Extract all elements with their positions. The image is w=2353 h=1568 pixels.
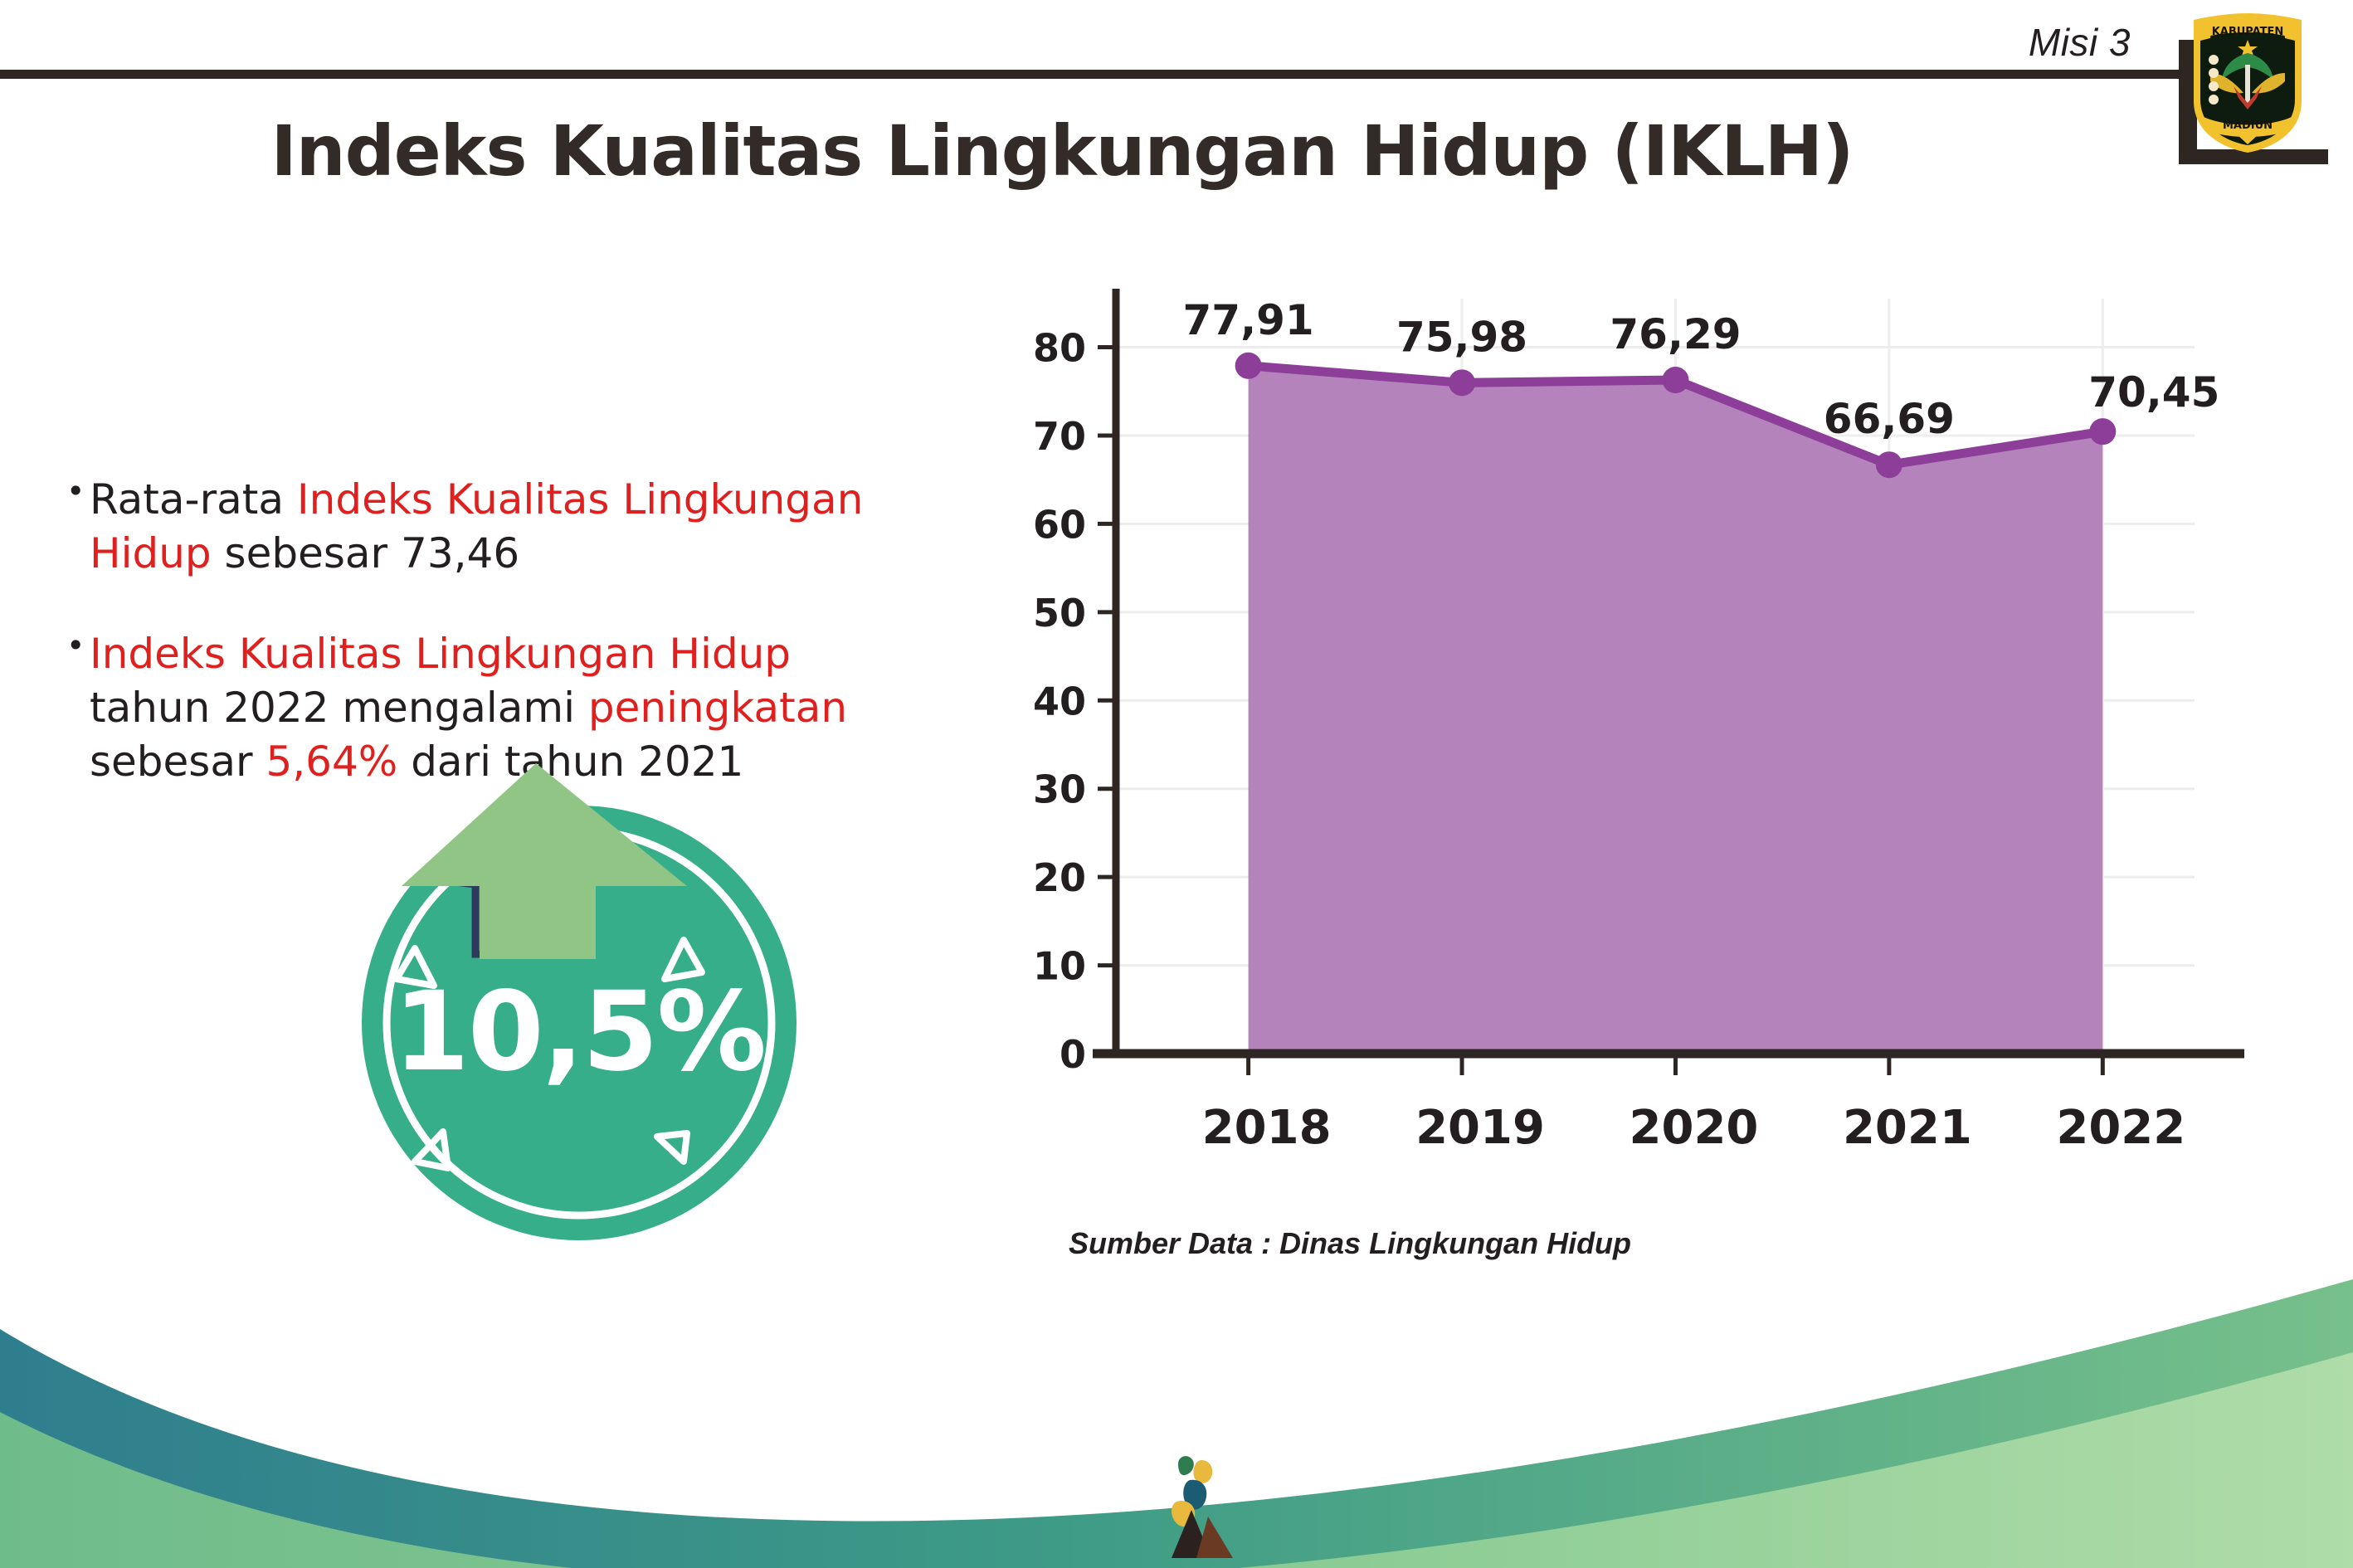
chart-y-axis: 01020304050607080 xyxy=(1033,326,1116,1077)
data-point-label: 70,45 xyxy=(2088,368,2219,416)
y-tick-label: 20 xyxy=(1033,855,1086,900)
y-tick-label: 40 xyxy=(1033,679,1086,723)
y-tick-label: 30 xyxy=(1033,767,1086,812)
increase-badge: 10,5% xyxy=(322,737,836,1251)
x-tick-label: 2019 xyxy=(1415,1101,1545,1155)
bullet-segment-1: tahun 2022 mengalami xyxy=(90,684,588,732)
data-point-marker xyxy=(1876,451,1902,478)
data-point-marker xyxy=(2089,418,2116,445)
crest-bottom-text: MADIUN xyxy=(2223,119,2273,132)
chart-canvas: 01020304050607080 20182019202020212022 7… xyxy=(954,274,2248,1211)
data-point-label: 76,29 xyxy=(1610,310,1741,358)
x-tick-label: 2020 xyxy=(1630,1101,1759,1155)
y-tick-label: 80 xyxy=(1033,326,1086,371)
misi-label: Misi 3 xyxy=(2029,20,2131,65)
bullet-segment-3: sebesar xyxy=(90,738,266,786)
statistics-figure-icon xyxy=(1153,1452,1245,1560)
bullet-segment-2: sebesar 73,46 xyxy=(212,529,519,577)
bullet-segment-0: Indeks Kualitas Lingkungan Hidup xyxy=(90,630,791,678)
x-tick-label: 2018 xyxy=(1202,1101,1332,1155)
data-point-label: 77,91 xyxy=(1183,296,1314,344)
data-point-marker xyxy=(1662,367,1688,393)
data-point-marker xyxy=(1235,353,1262,379)
badge-graphic-icon xyxy=(322,737,836,1251)
bullet-segment-0: Rata-rata xyxy=(90,475,297,523)
page-title: Indeks Kualitas Lingkungan Hidup (IKLH) xyxy=(0,114,2124,187)
y-tick-label: 10 xyxy=(1033,944,1086,989)
y-tick-label: 50 xyxy=(1033,591,1086,635)
bullet-item-0: Rata-rata Indeks Kualitas Lingkungan Hid… xyxy=(66,473,921,581)
header-rule xyxy=(0,70,2187,79)
data-point-label: 66,69 xyxy=(1824,395,1955,443)
iklh-area-chart: 01020304050607080 20182019202020212022 7… xyxy=(954,274,2248,1211)
x-tick-label: 2021 xyxy=(1843,1101,1972,1155)
chart-area-fill xyxy=(1249,366,2103,1054)
data-point-label: 75,98 xyxy=(1396,313,1527,361)
y-tick-label: 0 xyxy=(1060,1032,1086,1077)
bullet-segment-2: peningkatan xyxy=(588,684,847,732)
infographic-slide: Misi 3 KABUPATEN MADIUN Indeks Kualitas … xyxy=(0,0,2353,1568)
crest-top-text: KABUPATEN xyxy=(2212,26,2284,38)
data-point-marker xyxy=(1449,369,1475,396)
kabupaten-madiun-crest-icon: KABUPATEN MADIUN xyxy=(2185,10,2310,155)
x-tick-label: 2022 xyxy=(2056,1101,2185,1155)
y-tick-label: 70 xyxy=(1033,414,1086,459)
y-tick-label: 60 xyxy=(1033,502,1086,547)
chart-x-axis: 20182019202020212022 xyxy=(1202,1054,2186,1155)
